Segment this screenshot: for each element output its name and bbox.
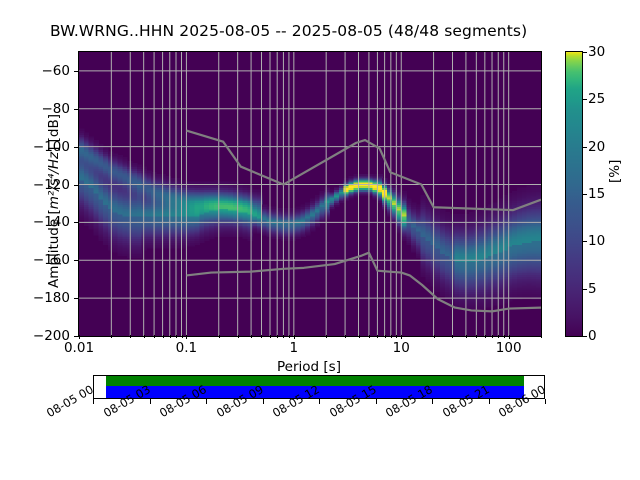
y-tick-mark <box>74 185 79 186</box>
timeline-tick-mark <box>150 399 151 404</box>
x-tick-mark-minor <box>466 335 467 338</box>
x-tick-mark-major <box>186 335 187 339</box>
timeline-tick-mark <box>489 399 490 404</box>
colorbar-tick-label: 15 <box>588 186 605 202</box>
colorbar-tick-label: 5 <box>588 281 597 297</box>
y-tick-label: −120 <box>33 177 70 193</box>
timeline-tick-mark <box>545 399 546 404</box>
x-tick-mark-major <box>79 335 80 339</box>
figure-title: BW.WRNG..HHN 2025-08-05 -- 2025-08-05 (4… <box>50 22 527 40</box>
x-tick-mark-minor <box>111 335 112 338</box>
ppsd-canvas <box>79 52 541 336</box>
y-tick-mark <box>74 147 79 148</box>
x-tick-mark-minor <box>391 335 392 338</box>
x-tick-mark-minor <box>396 335 397 338</box>
timeline-tick-mark <box>432 399 433 404</box>
x-tick-mark-minor <box>154 335 155 338</box>
colorbar-tick-mark <box>582 147 587 148</box>
colorbar[interactable] <box>565 51 583 337</box>
x-tick-mark-minor <box>130 335 131 338</box>
x-tick-mark-minor <box>270 335 271 338</box>
x-tick-mark-minor <box>452 335 453 338</box>
x-tick-mark-minor <box>541 335 542 338</box>
colorbar-tick-label: 10 <box>588 233 605 249</box>
colorbar-unit-label: [%] <box>607 160 623 183</box>
y-tick-label: −80 <box>42 101 71 117</box>
timeline-tick-label: 08-05 00 <box>44 382 96 420</box>
timeline-tick-mark <box>206 399 207 404</box>
colorbar-tick-mark <box>582 336 587 337</box>
x-tick-mark-minor <box>476 335 477 338</box>
x-tick-mark-major <box>294 335 295 339</box>
colorbar-tick-label: 30 <box>588 44 605 60</box>
timeline-tick-mark <box>319 399 320 404</box>
y-tick-label: −160 <box>33 252 70 268</box>
x-tick-mark-minor <box>261 335 262 338</box>
y-tick-label: −60 <box>42 63 71 79</box>
x-tick-mark-minor <box>283 335 284 338</box>
x-tick-label: 1 <box>290 340 299 356</box>
x-tick-mark-major <box>509 335 510 339</box>
y-tick-label: −140 <box>33 214 70 230</box>
x-tick-label: 0.01 <box>64 340 94 356</box>
colorbar-tick-label: 0 <box>588 328 597 344</box>
timeline-tick-mark <box>376 399 377 404</box>
timeline-tick-mark <box>93 399 94 404</box>
x-tick-mark-minor <box>326 335 327 338</box>
x-tick-mark-minor <box>377 335 378 338</box>
colorbar-tick-mark <box>582 52 587 53</box>
y-tick-mark <box>74 109 79 110</box>
x-tick-label: 100 <box>496 340 522 356</box>
y-tick-mark <box>74 298 79 299</box>
x-tick-mark-major <box>401 335 402 339</box>
colorbar-tick-mark <box>582 194 587 195</box>
y-tick-mark <box>74 222 79 223</box>
ppsd-histogram <box>79 129 541 309</box>
colorbar-tick-label: 20 <box>588 139 605 155</box>
x-tick-mark-minor <box>504 335 505 338</box>
colorbar-tick-mark <box>582 289 587 290</box>
x-tick-mark-minor <box>289 335 290 338</box>
x-tick-label: 10 <box>393 340 410 356</box>
x-tick-mark-minor <box>170 335 171 338</box>
timeline-tick-mark <box>263 399 264 404</box>
x-tick-mark-minor <box>434 335 435 338</box>
x-tick-mark-minor <box>345 335 346 338</box>
y-tick-label: −180 <box>33 290 70 306</box>
x-tick-mark-minor <box>219 335 220 338</box>
x-tick-mark-minor <box>369 335 370 338</box>
x-tick-mark-minor <box>144 335 145 338</box>
x-tick-mark-minor <box>485 335 486 338</box>
colorbar-tick-mark <box>582 99 587 100</box>
ppsd-figure: BW.WRNG..HHN 2025-08-05 -- 2025-08-05 (4… <box>0 0 640 480</box>
x-tick-mark-minor <box>238 335 239 338</box>
x-tick-mark-minor <box>277 335 278 338</box>
y-tick-mark <box>74 260 79 261</box>
x-tick-mark-minor <box>176 335 177 338</box>
colorbar-tick-mark <box>582 241 587 242</box>
ppsd-plot-area[interactable] <box>78 51 542 337</box>
x-axis-label: Period [s] <box>78 359 540 375</box>
x-tick-mark-minor <box>251 335 252 338</box>
x-tick-mark-minor <box>498 335 499 338</box>
x-tick-mark-minor <box>359 335 360 338</box>
x-tick-mark-minor <box>385 335 386 338</box>
x-tick-label: 0.1 <box>176 340 197 356</box>
x-tick-mark-minor <box>163 335 164 338</box>
x-tick-mark-minor <box>182 335 183 338</box>
x-tick-mark-minor <box>492 335 493 338</box>
y-tick-label: −100 <box>33 139 70 155</box>
colorbar-tick-label: 25 <box>588 91 605 107</box>
y-tick-mark <box>74 71 79 72</box>
